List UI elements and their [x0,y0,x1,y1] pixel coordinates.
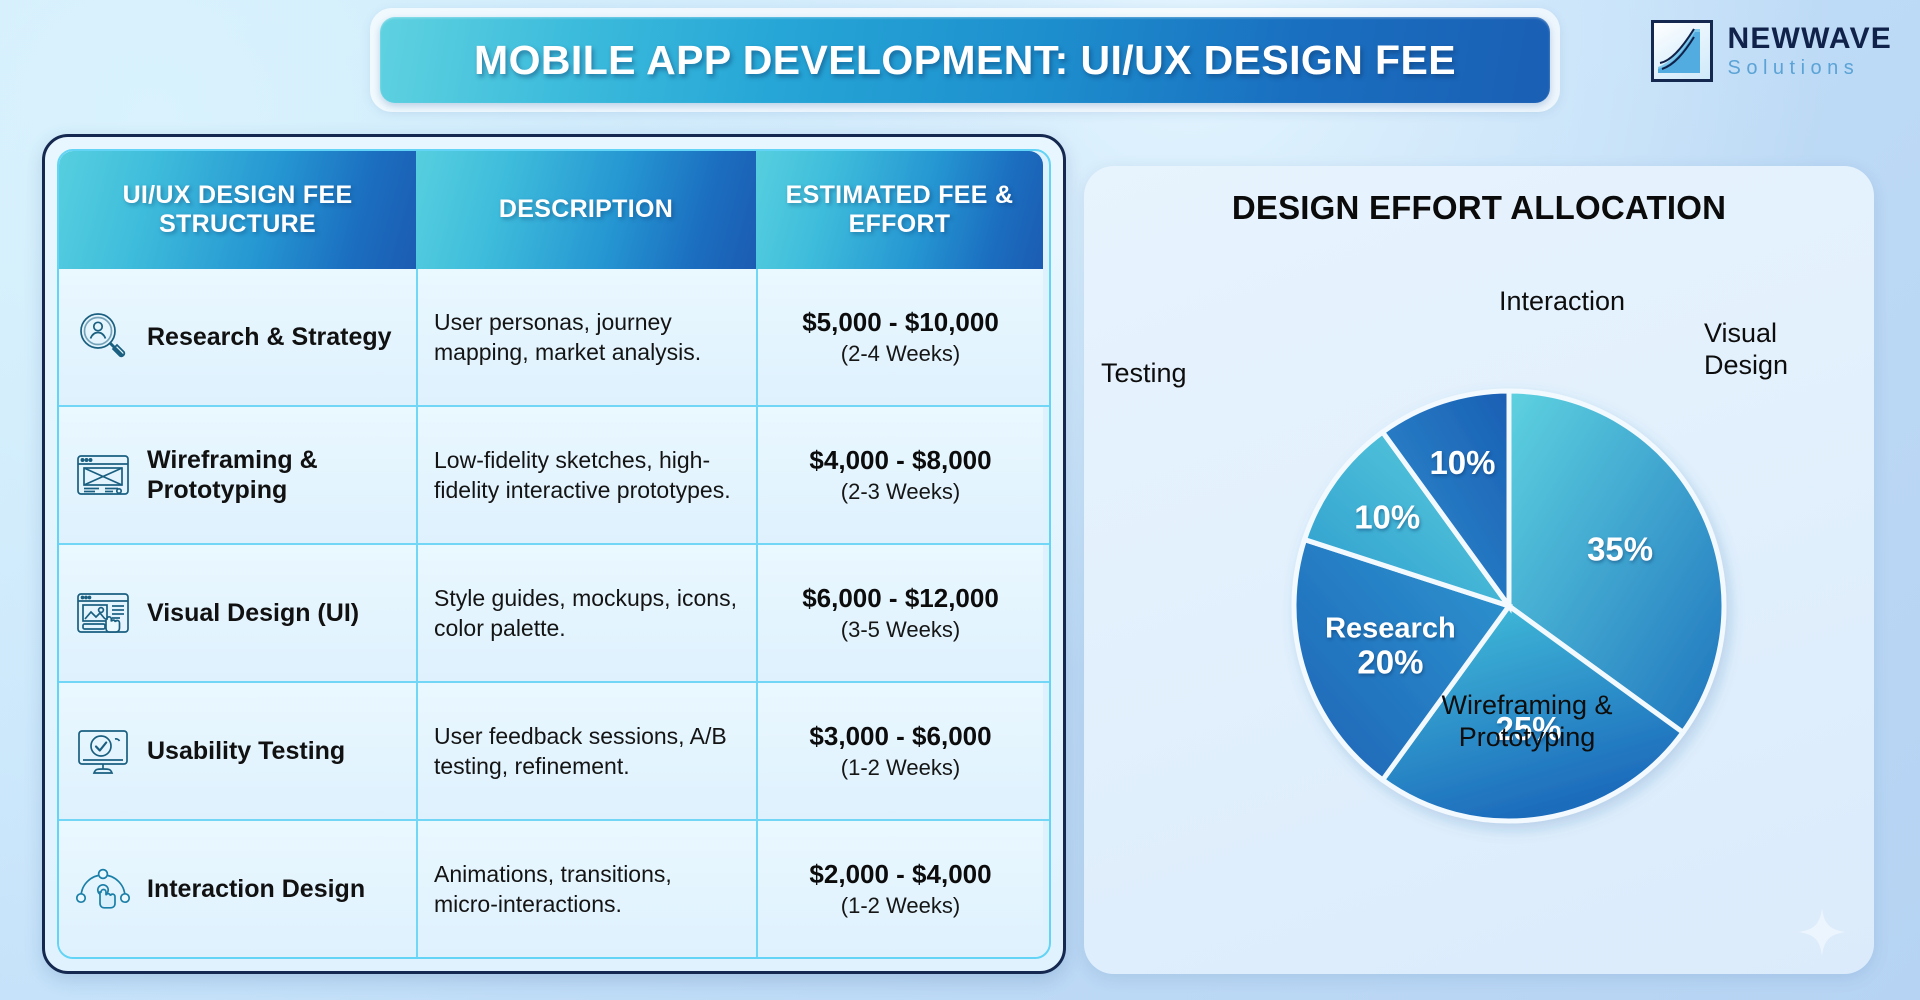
logo-tagline: Solutions [1727,58,1892,78]
fee-amount: $6,000 - $12,000 [802,583,999,614]
page-header: MOBILE APP DEVELOPMENT: UI/UX DESIGN FEE… [0,0,1920,120]
sparkle-decoration-icon [1796,906,1848,958]
pie-outer-label-visual-design: Visual Design [1704,318,1788,382]
row-description-cell: User personas, journey mapping, market a… [416,269,756,405]
fee-effort: (2-3 Weeks) [841,479,960,505]
row-fee-cell: $2,000 - $4,000 (1-2 Weeks) [756,821,1043,957]
fee-amount: $4,000 - $8,000 [809,445,991,476]
table-row: Usability Testing User feedback sessions… [59,681,1049,819]
column-header-description: DESCRIPTION [416,151,756,269]
table-row: Interaction Design Animations, transitio… [59,819,1049,957]
row-description-cell: User feedback sessions, A/B testing, ref… [416,683,756,819]
title-banner: MOBILE APP DEVELOPMENT: UI/UX DESIGN FEE [380,17,1550,103]
monitor-check-icon [73,721,133,781]
pie-slice-value-label: 10% [1354,499,1420,536]
pie-slice-value-label: 35% [1587,530,1653,567]
row-name-cell: Visual Design (UI) [59,545,416,681]
pie-slice-value-label: 20% [1357,644,1423,681]
fee-amount: $5,000 - $10,000 [802,307,999,338]
fee-effort: (2-4 Weeks) [841,341,960,367]
row-label: Wireframing & Prototyping [147,445,416,505]
row-name-cell: Research & Strategy [59,269,416,405]
title-banner-frame: MOBILE APP DEVELOPMENT: UI/UX DESIGN FEE [370,8,1560,112]
logo-wordmark: NEWWAVE [1727,24,1892,54]
table-body: Research & Strategy User personas, journ… [59,269,1049,957]
fee-structure-card: UI/UX DESIGN FEE STRUCTURE DESCRIPTION E… [42,134,1066,974]
wave-logo-icon [1651,20,1713,82]
pie-svg: 35%25%Research20%10%10% [1084,166,1874,974]
row-fee-cell: $4,000 - $8,000 (2-3 Weeks) [756,407,1043,543]
layout-cursor-icon [73,583,133,643]
wireframe-browser-icon [73,445,133,505]
pie-outer-label-testing: Testing [1101,358,1187,390]
table-header-row: UI/UX DESIGN FEE STRUCTURE DESCRIPTION E… [59,151,1049,269]
row-name-cell: Usability Testing [59,683,416,819]
row-description-cell: Style guides, mockups, icons, color pale… [416,545,756,681]
pie-slice-value-label: 10% [1429,444,1495,481]
row-fee-cell: $3,000 - $6,000 (1-2 Weeks) [756,683,1043,819]
row-description-cell: Low-fidelity sketches, high-fidelity int… [416,407,756,543]
row-fee-cell: $5,000 - $10,000 (2-4 Weeks) [756,269,1043,405]
fee-table: UI/UX DESIGN FEE STRUCTURE DESCRIPTION E… [57,149,1051,959]
tap-gesture-nodes-icon [73,859,133,919]
column-header-estimated-fee: ESTIMATED FEE & EFFORT [756,151,1043,269]
column-header-fee-structure: UI/UX DESIGN FEE STRUCTURE [59,151,416,269]
fee-effort: (3-5 Weeks) [841,617,960,643]
row-label: Interaction Design [147,874,365,904]
table-row: Wireframing & Prototyping Low-fidelity s… [59,405,1049,543]
fee-effort: (1-2 Weeks) [841,755,960,781]
person-magnifier-icon [73,307,133,367]
row-fee-cell: $6,000 - $12,000 (3-5 Weeks) [756,545,1043,681]
fee-amount: $3,000 - $6,000 [809,721,991,752]
pie-outer-label-wireframing: Wireframing & Prototyping [1362,690,1692,754]
design-effort-chart-card: DESIGN EFFORT ALLOCATION [1084,166,1874,974]
pie-slice-value-label: Research [1325,613,1456,645]
fee-effort: (1-2 Weeks) [841,893,960,919]
pie-chart: 35%25%Research20%10%10% Interaction Test… [1084,166,1874,974]
fee-amount: $2,000 - $4,000 [809,859,991,890]
page-title: MOBILE APP DEVELOPMENT: UI/UX DESIGN FEE [474,37,1456,84]
row-label: Visual Design (UI) [147,598,359,628]
row-description-cell: Animations, transitions, micro-interacti… [416,821,756,957]
pie-outer-label-interaction: Interaction [1499,286,1625,318]
table-row: Research & Strategy User personas, journ… [59,269,1049,405]
row-label: Usability Testing [147,736,345,766]
row-name-cell: Interaction Design [59,821,416,957]
row-label: Research & Strategy [147,322,392,352]
table-row: Visual Design (UI) Style guides, mockups… [59,543,1049,681]
brand-logo: NEWWAVE Solutions [1651,20,1892,82]
row-name-cell: Wireframing & Prototyping [59,407,416,543]
